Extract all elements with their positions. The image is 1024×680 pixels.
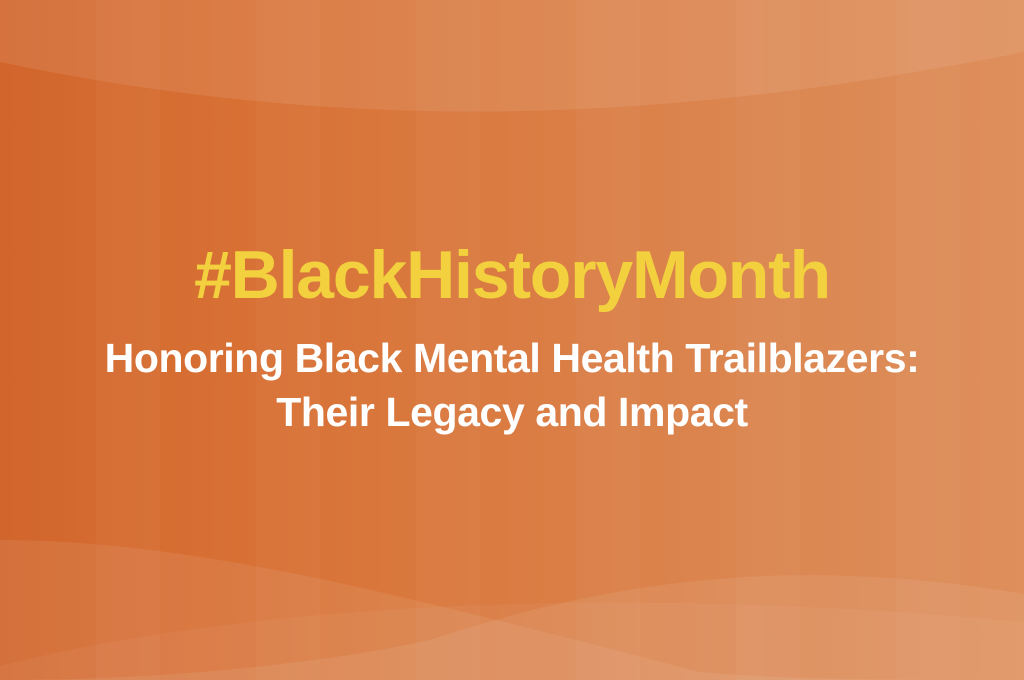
poster-headline: Honoring Black Mental Health Trailblazer… bbox=[105, 331, 920, 439]
headline-line-1: Honoring Black Mental Health Trailblazer… bbox=[105, 331, 920, 385]
poster-text-block: #BlackHistoryMonth Honoring Black Mental… bbox=[0, 0, 1024, 680]
headline-line-2: Their Legacy and Impact bbox=[105, 385, 920, 439]
campaign-hashtag: #BlackHistoryMonth bbox=[194, 241, 830, 309]
social-graphic-poster: #BlackHistoryMonth Honoring Black Mental… bbox=[0, 0, 1024, 680]
